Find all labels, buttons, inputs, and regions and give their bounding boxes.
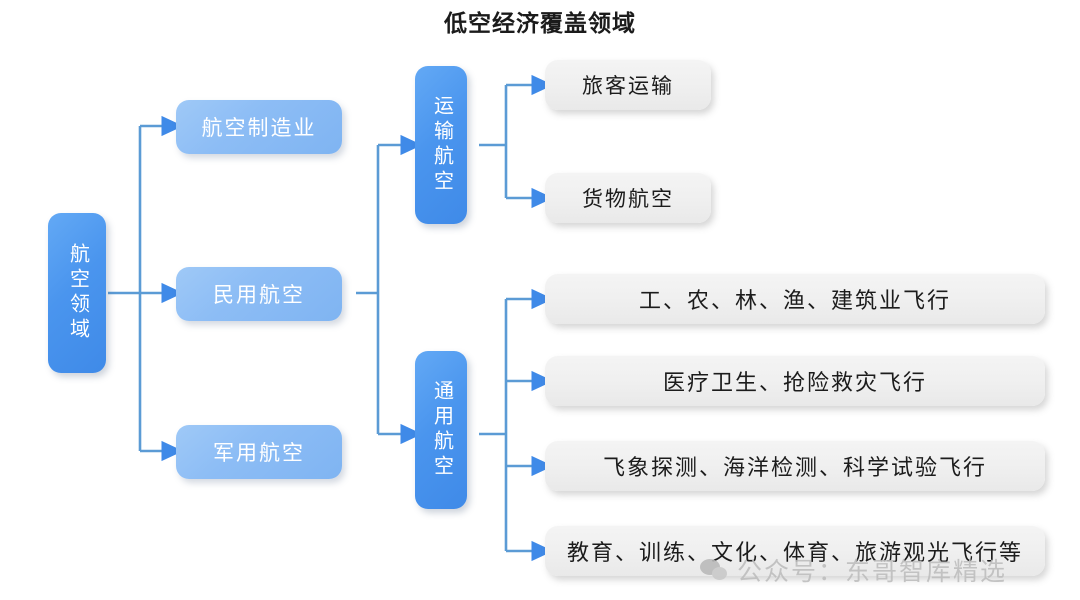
diagram-canvas: 低空经济覆盖领域 — [0, 0, 1080, 600]
node-label: 医疗卫生、抢险救灾飞行 — [663, 365, 927, 397]
node-aviation-manufacturing[interactable]: 航空制造业 — [176, 100, 342, 154]
node-meteorology-ocean-science-flight[interactable]: 飞象探测、海洋检测、科学试验飞行 — [545, 441, 1045, 491]
node-civil-aviation[interactable]: 民用航空 — [176, 267, 342, 321]
node-label: 教育、训练、文化、体育、旅游观光飞行等 — [567, 535, 1023, 567]
node-label: 货物航空 — [582, 183, 674, 213]
node-label: 运输航空 — [429, 95, 454, 195]
node-label: 通用航空 — [429, 380, 454, 480]
node-root-aviation-field[interactable]: 航空领域 — [48, 213, 106, 373]
node-education-tourism-flight[interactable]: 教育、训练、文化、体育、旅游观光飞行等 — [545, 526, 1045, 576]
node-label: 旅客运输 — [582, 70, 674, 100]
node-label: 民用航空 — [213, 279, 305, 309]
node-passenger-transport[interactable]: 旅客运输 — [545, 60, 711, 110]
node-medical-rescue-flight[interactable]: 医疗卫生、抢险救灾飞行 — [545, 356, 1045, 406]
node-transport-aviation[interactable]: 运输航空 — [415, 66, 467, 224]
node-label: 航空制造业 — [202, 112, 317, 142]
node-cargo-aviation[interactable]: 货物航空 — [545, 173, 711, 223]
page-title: 低空经济覆盖领域 — [0, 4, 1080, 38]
node-industry-agriculture-flight[interactable]: 工、农、林、渔、建筑业飞行 — [545, 274, 1045, 324]
node-label: 军用航空 — [213, 437, 305, 467]
node-general-aviation[interactable]: 通用航空 — [415, 351, 467, 509]
node-label: 工、农、林、渔、建筑业飞行 — [639, 283, 951, 315]
node-label: 飞象探测、海洋检测、科学试验飞行 — [603, 450, 987, 482]
node-military-aviation[interactable]: 军用航空 — [176, 425, 342, 479]
node-label: 航空领域 — [65, 243, 90, 343]
